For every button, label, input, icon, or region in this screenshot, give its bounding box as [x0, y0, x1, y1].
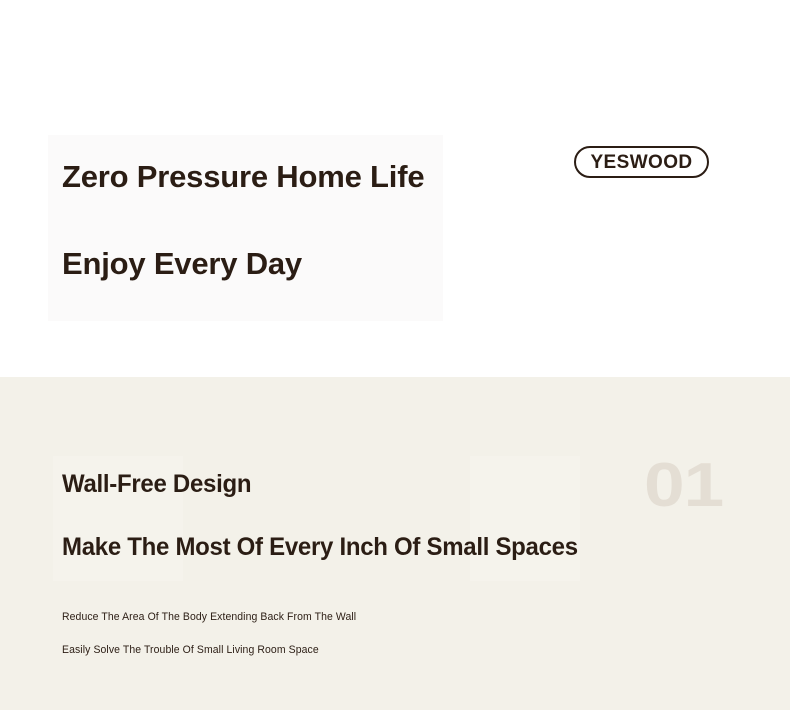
hero-section: Zero Pressure Home Life Enjoy Every Day … — [0, 0, 790, 377]
hero-heading-line-1: Zero Pressure Home Life — [62, 160, 582, 194]
feature-bullet-item: Easily Solve The Trouble Of Small Living… — [62, 644, 537, 657]
product-marketing-banner: Zero Pressure Home Life Enjoy Every Day … — [0, 0, 790, 710]
feature-bullet-item: Reduce The Area Of The Body Extending Ba… — [62, 611, 537, 624]
hero-heading-line-2: Enjoy Every Day — [62, 247, 582, 281]
feature-step-number-watermark: 01 — [644, 455, 757, 517]
feature-title: Wall-Free Design — [62, 470, 251, 498]
brand-logo-label: YESWOOD — [590, 153, 692, 172]
feature-bullet-list: Reduce The Area Of The Body Extending Ba… — [62, 611, 562, 657]
brand-logo-badge[interactable]: YESWOOD — [574, 146, 709, 178]
feature-background-plate-right — [470, 456, 580, 581]
hero-heading: Zero Pressure Home Life Enjoy Every Day — [62, 160, 582, 281]
feature-subtitle: Make The Most Of Every Inch Of Small Spa… — [62, 533, 578, 561]
